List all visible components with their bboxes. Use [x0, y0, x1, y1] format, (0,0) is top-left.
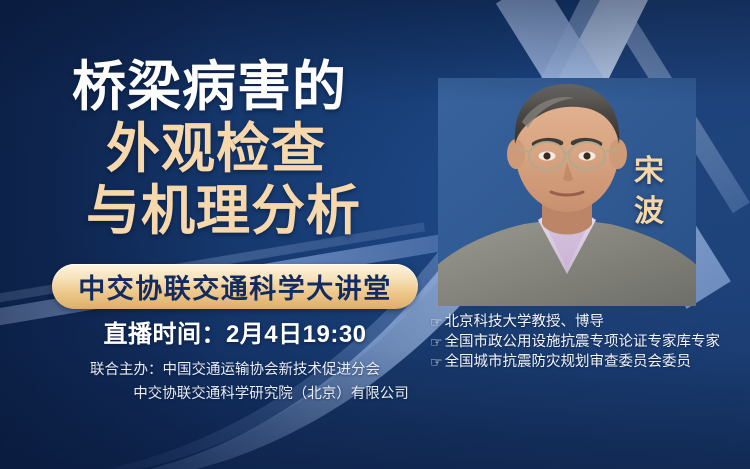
page-title: 桥梁病害的 外观检查 与机理分析 — [0, 56, 430, 242]
organizer-line-2: 中交协联交通科学研究院（北京）有限公司 — [0, 382, 470, 406]
title-line-2: 外观检查 — [106, 118, 430, 180]
broadcast-time: 直播时间：2月4日19:30 — [0, 314, 470, 349]
series-banner: 中交协联交通科学大讲堂 — [52, 264, 418, 309]
speaker-name: 宋波 — [628, 152, 670, 232]
pointing-hand-icon: ☞ — [430, 332, 443, 352]
credential-text: 全国市政公用设施抗震专项论证专家库专家 — [445, 332, 721, 352]
credential-row: ☞ 北京科技大学教授、博导 — [430, 312, 720, 332]
credential-row: ☞ 全国城市抗震防灾规划审查委员会委员 — [430, 352, 720, 372]
organizers: 联合主办：中国交通运输协会新技术促进分会 中交协联交通科学研究院（北京）有限公司 — [0, 358, 470, 406]
pointing-hand-icon: ☞ — [430, 312, 443, 332]
speaker-credentials: ☞ 北京科技大学教授、博导 ☞ 全国市政公用设施抗震专项论证专家库专家 ☞ 全国… — [430, 312, 720, 372]
title-line-3: 与机理分析 — [86, 180, 430, 242]
credential-row: ☞ 全国市政公用设施抗震专项论证专家库专家 — [430, 332, 720, 352]
credential-text: 北京科技大学教授、博导 — [445, 312, 605, 332]
title-line-1: 桥梁病害的 — [72, 56, 430, 118]
series-banner-label: 中交协联交通科学大讲堂 — [78, 267, 392, 306]
webinar-poster: 桥梁病害的 外观检查 与机理分析 中交协联交通科学大讲堂 直播时间：2月4日19… — [0, 0, 750, 469]
pointing-hand-icon: ☞ — [430, 352, 443, 372]
organizer-line-1: 联合主办：中国交通运输协会新技术促进分会 — [0, 358, 470, 382]
credential-text: 全国城市抗震防灾规划审查委员会委员 — [445, 352, 692, 372]
